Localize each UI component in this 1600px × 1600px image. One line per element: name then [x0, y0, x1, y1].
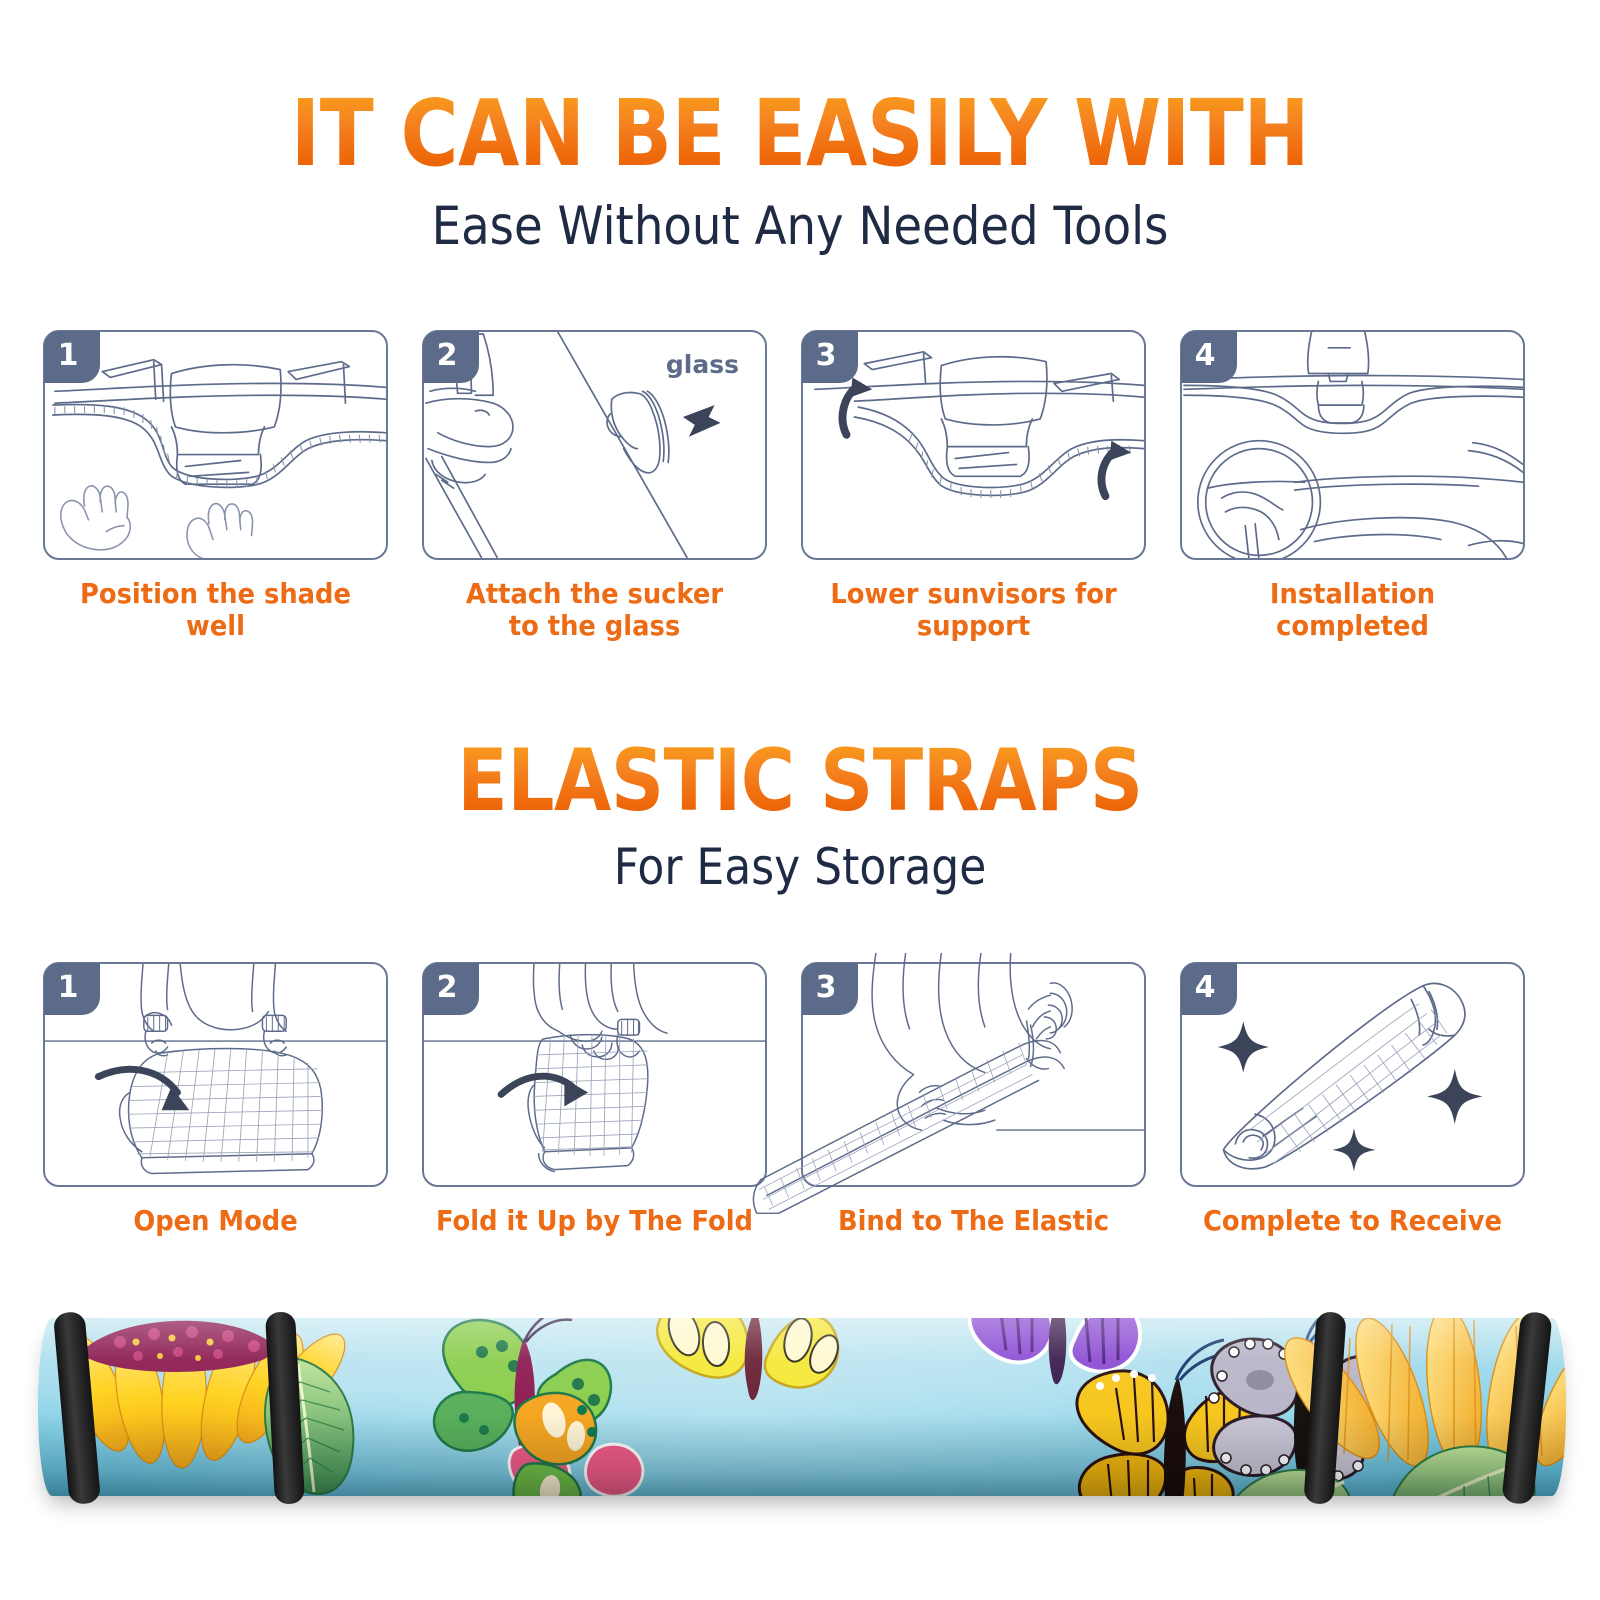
- storage-panel-2: 2: [422, 962, 767, 1187]
- storage-caption-4: Complete to Receive: [1194, 1205, 1511, 1237]
- storage-panel-3: 3: [801, 962, 1146, 1187]
- step-caption-2: Attach the sucker to the glass: [436, 578, 753, 642]
- storage-panel-1: 1: [43, 962, 388, 1187]
- storage-badge-3: 3: [802, 963, 858, 1015]
- step-caption-4: Installation completed: [1194, 578, 1511, 642]
- step-caption-3: Lower sunvisors for support: [815, 578, 1132, 642]
- step-badge-1: 1: [44, 331, 100, 383]
- rotate-arrow-right-head: [1109, 441, 1131, 461]
- storage-caption-2: Fold it Up by The Fold: [436, 1205, 753, 1237]
- storage-card-1: 1 Open Mode: [43, 962, 422, 1262]
- storage-caption-1: Open Mode: [57, 1205, 374, 1237]
- storage-card-3: 3 Bind to The Elastic: [801, 962, 1180, 1262]
- storage-panel-4: 4: [1180, 962, 1525, 1187]
- step-card-2: glass 2 Attach the sucker to the glass: [422, 330, 801, 660]
- step-panel-2: glass 2: [422, 330, 767, 560]
- step-card-4: 4 Installation completed: [1180, 330, 1559, 660]
- storage-steps-row: 1 Open Mode: [0, 962, 1600, 1262]
- storage-caption-3: Bind to The Elastic: [815, 1205, 1132, 1237]
- step-badge-3: 3: [802, 331, 858, 383]
- section1-subtitle: Ease Without Any Needed Tools: [96, 196, 1504, 257]
- step-panel-4: 4: [1180, 330, 1525, 560]
- step-badge-2: 2: [423, 331, 479, 383]
- step-panel-3: 3: [801, 330, 1146, 560]
- bind-elastic-icon: [743, 904, 1204, 1246]
- glass-annotation-label: glass: [666, 350, 739, 379]
- step-card-3: 3 Lower sunvisors for support: [801, 330, 1180, 660]
- sparkle-icon: [1218, 1021, 1483, 1171]
- section1-title: IT CAN BE EASILY WITH: [112, 88, 1488, 180]
- section2-title: ELASTIC STRAPS: [112, 738, 1488, 824]
- product-photo: [38, 1318, 1566, 1496]
- fold-arrow-icon: [98, 1069, 177, 1092]
- storage-card-2: 2 Fold it Up by The Fold: [422, 962, 801, 1262]
- step-badge-4: 4: [1181, 331, 1237, 383]
- direction-arrow-icon: [683, 405, 721, 437]
- storage-badge-1: 1: [44, 963, 100, 1015]
- storage-card-4: 4 Complete to Receive: [1180, 962, 1559, 1262]
- storage-badge-4: 4: [1181, 963, 1237, 1015]
- step-caption-1: Position the shade well: [57, 578, 374, 642]
- section2-subtitle: For Easy Storage: [96, 838, 1504, 896]
- installation-steps-row: 1 Position the shade well: [0, 330, 1600, 660]
- step-card-1: 1 Position the shade well: [43, 330, 422, 660]
- storage-badge-2: 2: [423, 963, 479, 1015]
- step-panel-1: 1: [43, 330, 388, 560]
